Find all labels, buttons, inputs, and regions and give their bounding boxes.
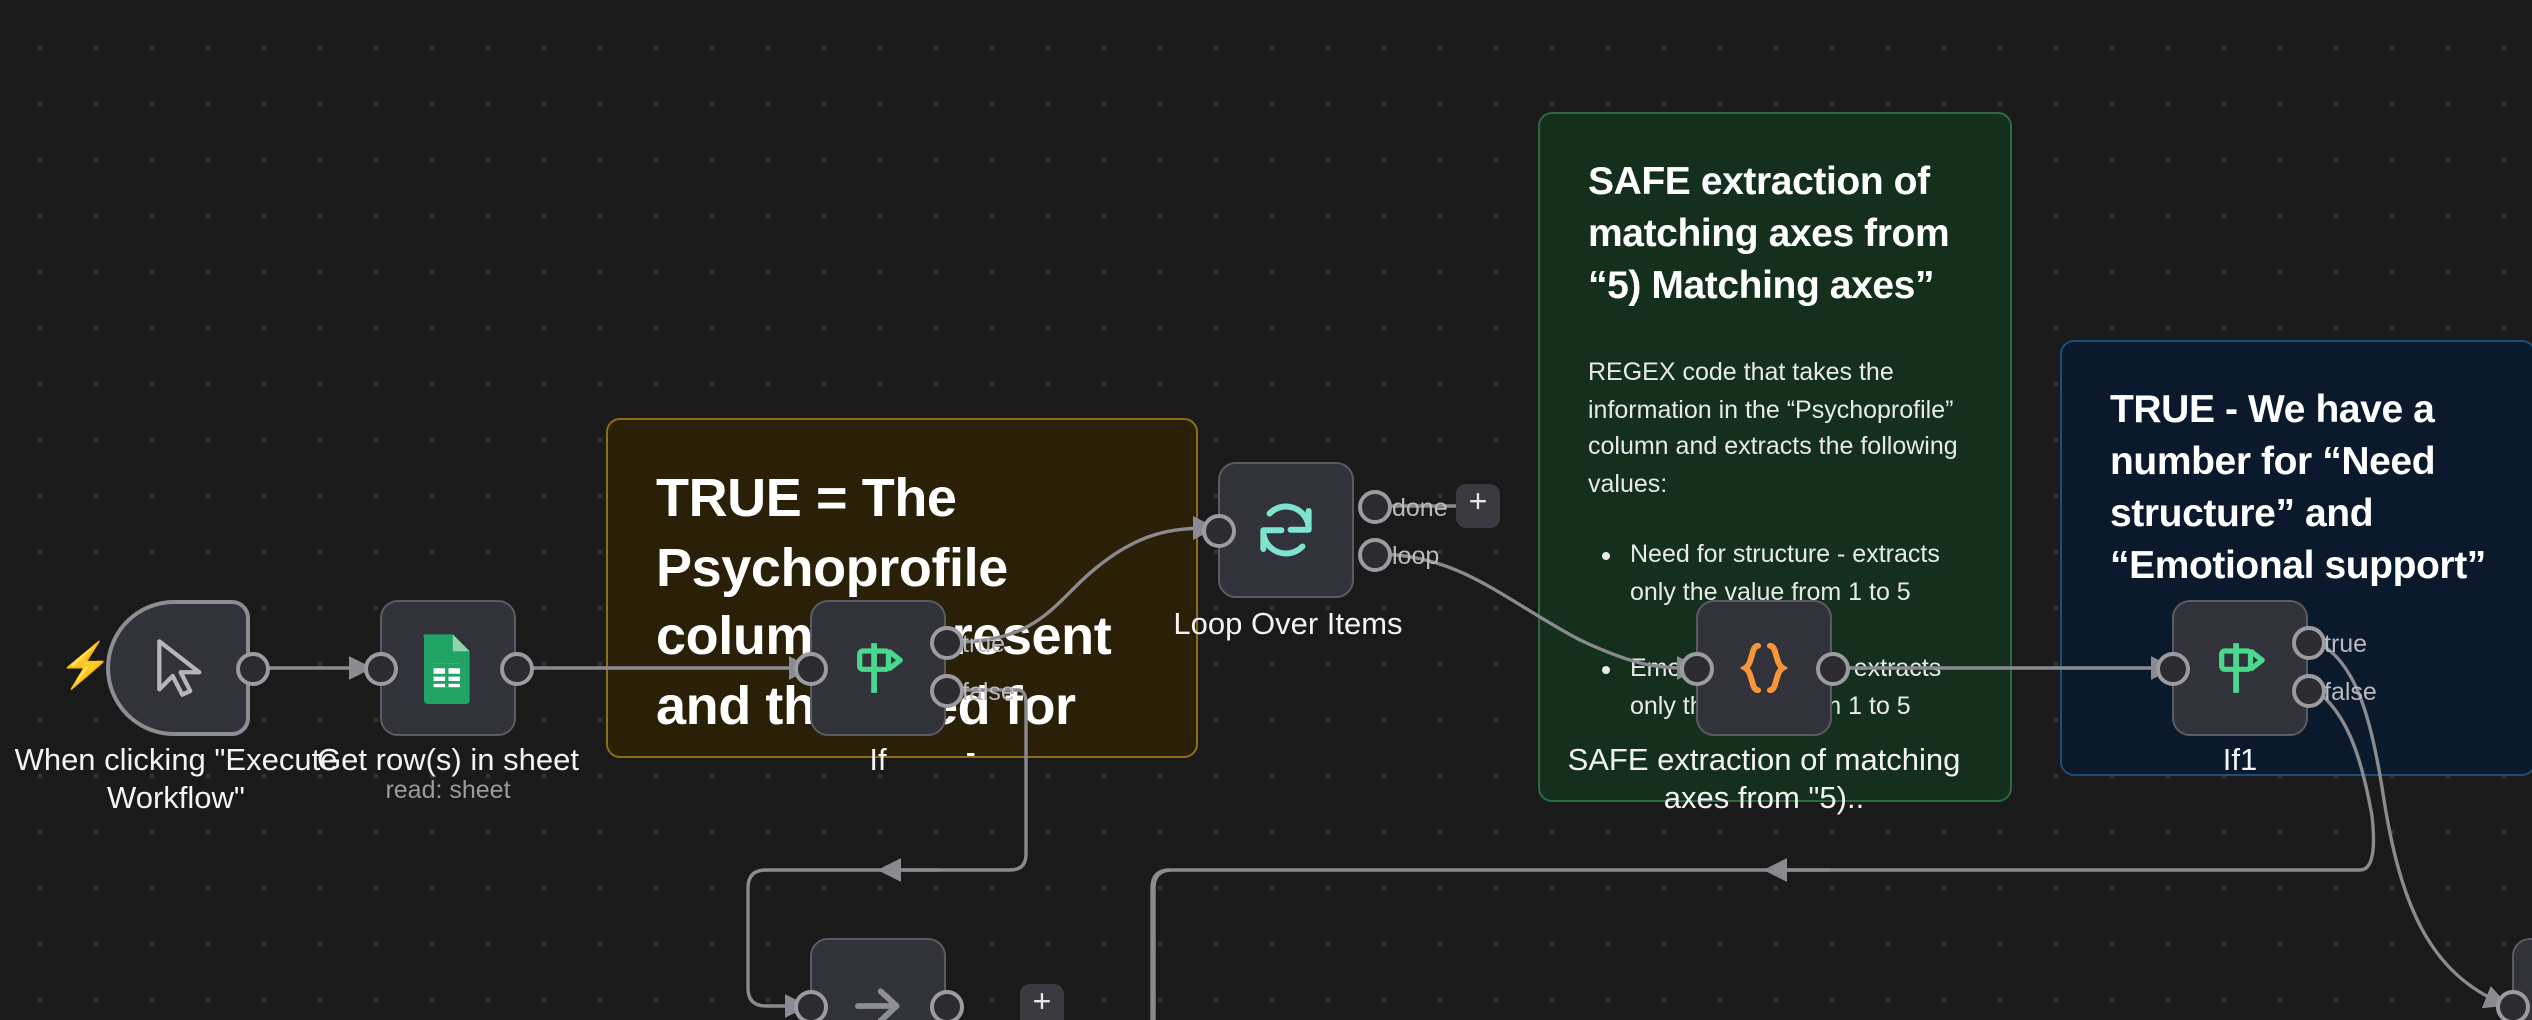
google-sheets-icon xyxy=(418,632,478,704)
port-label-true: true xyxy=(962,630,1005,658)
output-port-true[interactable] xyxy=(930,626,964,660)
port-label-loop: loop xyxy=(1392,542,1439,570)
signpost-filter-icon xyxy=(844,634,912,702)
input-port[interactable] xyxy=(2156,652,2190,686)
output-port[interactable] xyxy=(236,652,270,686)
input-port[interactable] xyxy=(794,652,828,686)
port-label-false: false xyxy=(2324,678,2377,706)
output-port-true[interactable] xyxy=(2292,626,2326,660)
sticky-note-heading: TRUE - We have a number for “Need struct… xyxy=(2110,386,2486,593)
wire-wait-to-loop xyxy=(1152,870,2532,1020)
node-safe-extraction-code[interactable] xyxy=(1696,600,1832,736)
input-port[interactable] xyxy=(794,990,828,1020)
signpost-filter-icon xyxy=(2206,634,2274,702)
input-port[interactable] xyxy=(364,652,398,686)
node-label-if1: If1 xyxy=(2030,742,2450,781)
node-label-get-rows-in-sheet: Get row(s) in sheet xyxy=(238,742,658,781)
add-node-button-noop[interactable]: + xyxy=(1020,984,1064,1020)
port-label-true: true xyxy=(2324,630,2367,658)
sticky-note-heading: SAFE extraction of matching axes from “5… xyxy=(1588,158,1962,314)
node-get-rows-in-sheet[interactable] xyxy=(380,600,516,736)
arrow-right-icon xyxy=(846,974,910,1020)
output-port[interactable] xyxy=(930,990,964,1020)
add-node-button-loop-done[interactable]: + xyxy=(1456,484,1500,528)
input-port[interactable] xyxy=(1202,514,1236,548)
node-when-clicking-execute-workflow[interactable] xyxy=(106,600,250,736)
output-port-false[interactable] xyxy=(2292,674,2326,708)
cursor-pointer-icon xyxy=(146,636,210,700)
curly-braces-code-icon xyxy=(1732,636,1796,700)
lightning-bolt-icon: ⚡ xyxy=(58,644,113,688)
output-port-done[interactable] xyxy=(1358,490,1392,524)
node-if[interactable] xyxy=(810,600,946,736)
loop-refresh-icon xyxy=(1252,496,1320,564)
port-label-false: false xyxy=(962,678,1015,706)
output-port-loop[interactable] xyxy=(1358,538,1392,572)
node-label-loop-over-items: Loop Over Items xyxy=(1078,606,1498,645)
output-port[interactable] xyxy=(500,652,534,686)
node-no-operation-do-nothing[interactable] xyxy=(810,938,946,1020)
workflow-canvas[interactable]: TRUE = The Psychoprofile column is prese… xyxy=(0,0,2532,1020)
output-port[interactable] xyxy=(1816,652,1850,686)
output-port-false[interactable] xyxy=(930,674,964,708)
node-label-safe-extraction-code: SAFE extraction of matching axes from "5… xyxy=(1554,742,1974,820)
node-label-if: If xyxy=(668,742,1088,781)
input-port[interactable] xyxy=(2496,990,2530,1020)
node-sublabel-get-rows-in-sheet: read: sheet xyxy=(238,776,658,804)
sticky-note-body: REGEX code that takes the information in… xyxy=(1588,354,1962,504)
node-if1[interactable] xyxy=(2172,600,2308,736)
node-loop-over-items[interactable] xyxy=(1218,462,1354,598)
input-port[interactable] xyxy=(1680,652,1714,686)
port-label-done: done xyxy=(1392,494,1448,522)
